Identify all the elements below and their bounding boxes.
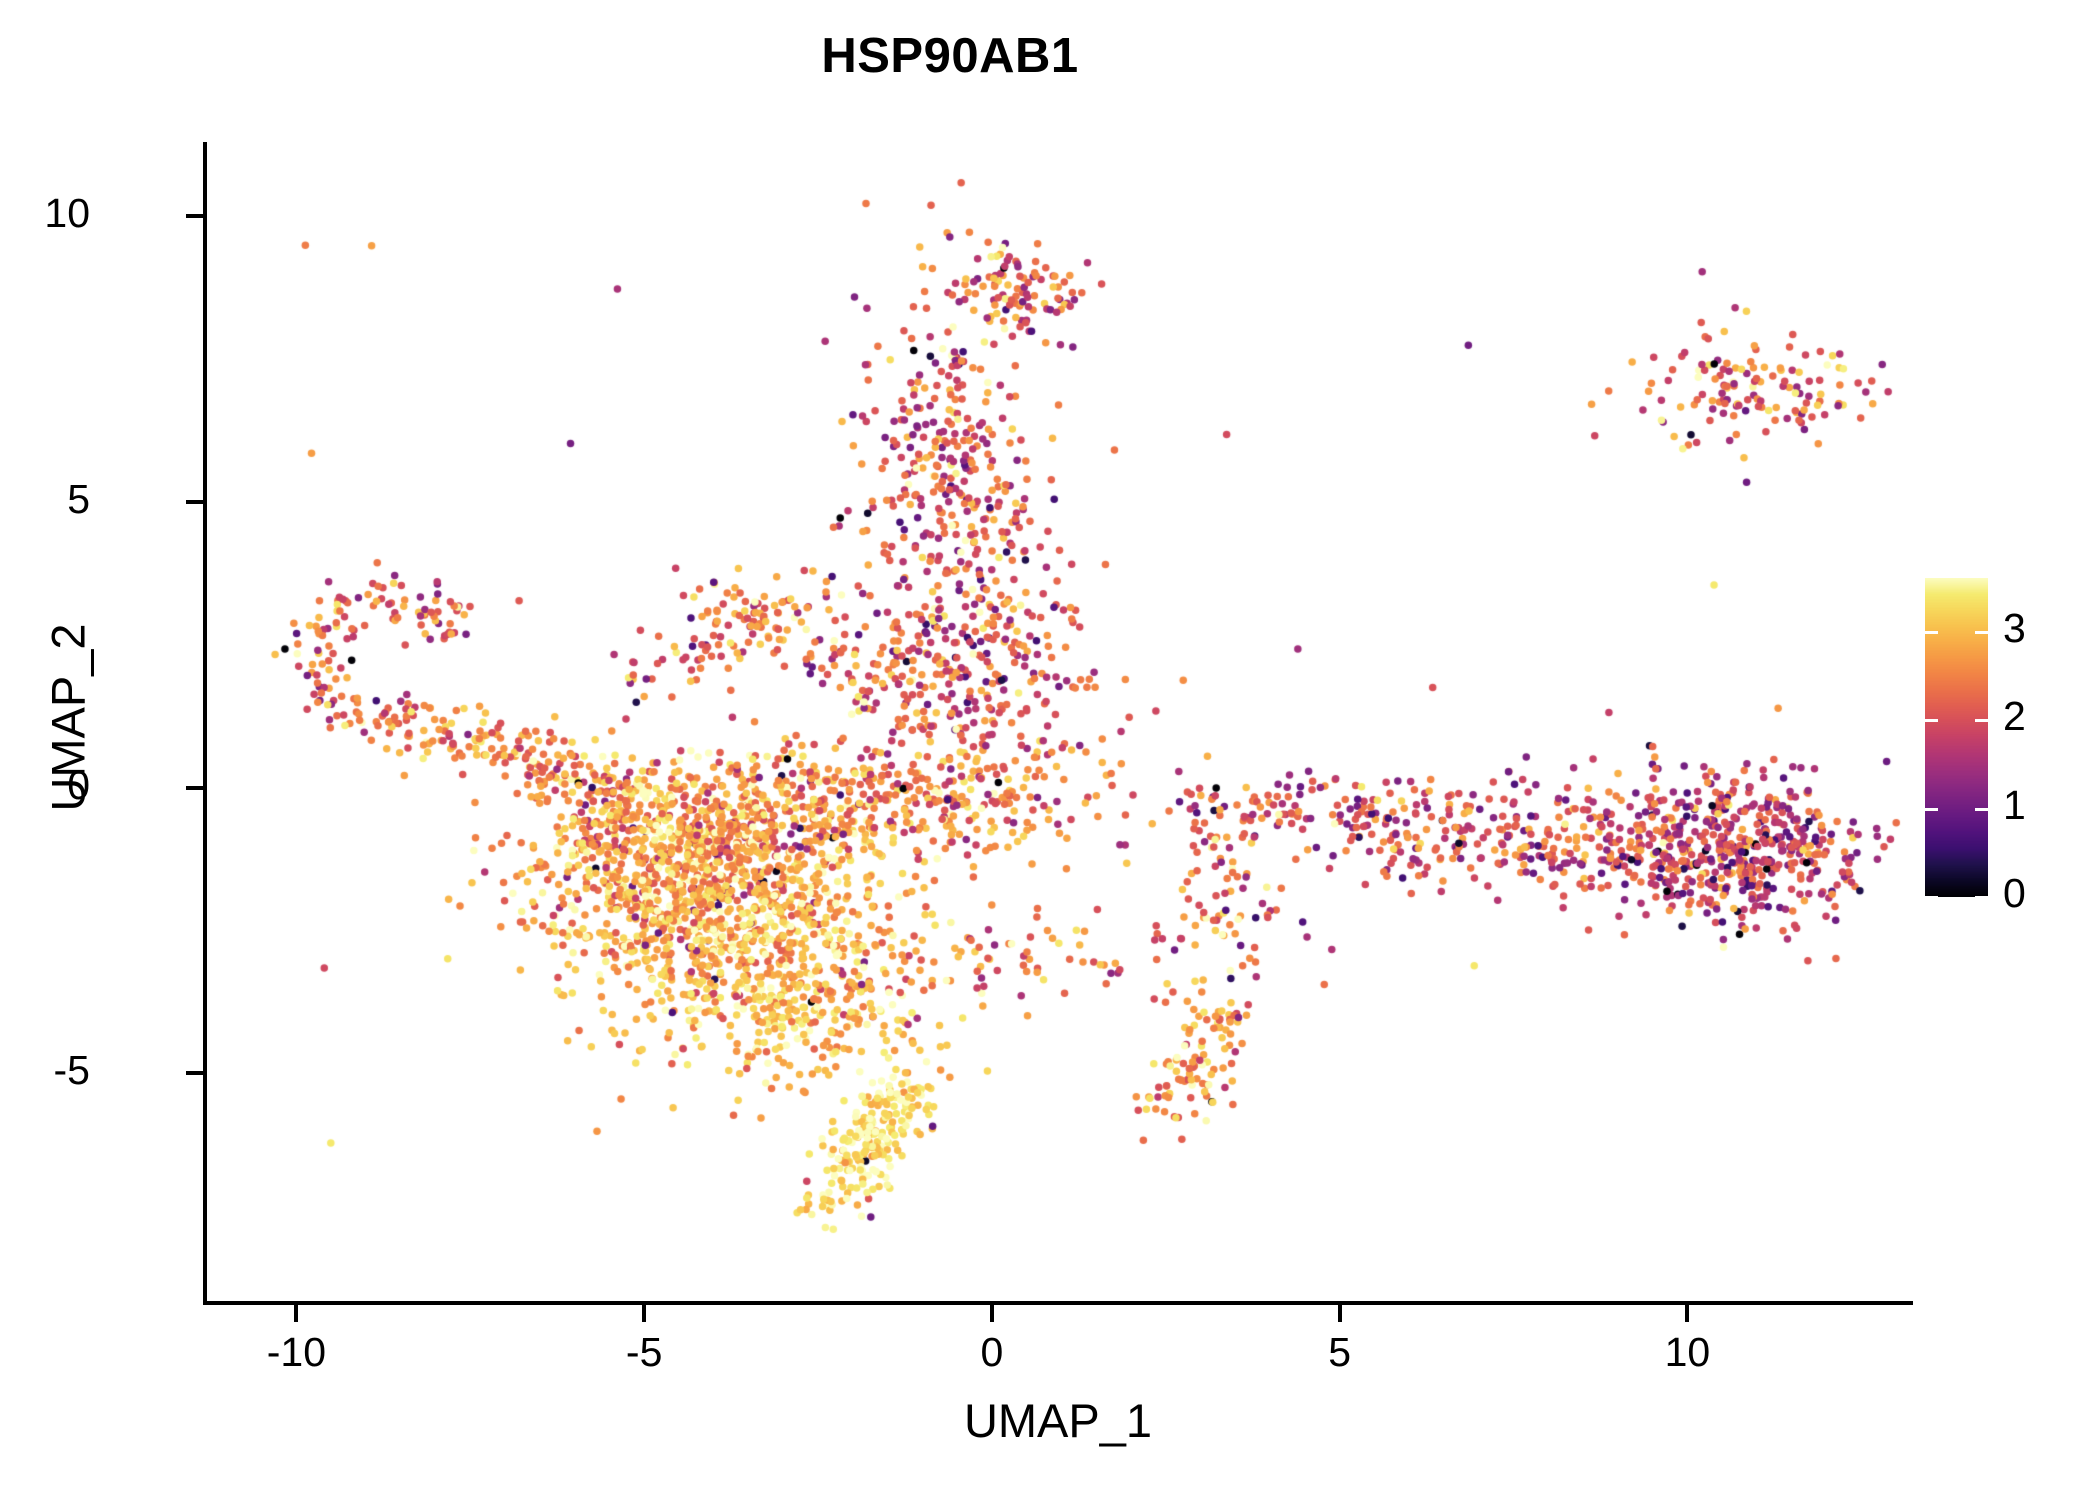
x-axis-title: UMAP_1 [206,1393,1910,1448]
colorbar-gradient [1925,578,1988,897]
x-axis-tick [1338,1305,1342,1322]
x-axis-tick [990,1305,994,1322]
colorbar-tick [1925,631,1938,634]
colorbar-tick [1975,808,1988,811]
colorbar-tick [1975,896,1988,899]
colorbar-tick [1925,719,1938,722]
scatter-plot-figure: HSP90AB1 1050-5-10-50510 UMAP_1 UMAP_2 3… [0,0,2100,1500]
x-axis-tick-label: -5 [554,1329,734,1376]
plot-panel [206,142,1910,1302]
x-axis-tick-label: 10 [1597,1329,1777,1376]
y-axis-title: UMAP_2 [41,418,96,1018]
colorbar-tick-label: 0 [2003,870,2026,917]
y-axis-line [203,142,207,1305]
y-axis-tick [186,214,203,218]
colorbar-tick [1975,631,1988,634]
colorbar-tick-label: 1 [2003,782,2026,829]
colorbar-tick [1925,808,1938,811]
scatter-points-canvas [206,142,1910,1302]
x-axis-tick-label: -10 [206,1329,386,1376]
colorbar-tick-label: 3 [2003,605,2026,652]
y-axis-tick-label: 10 [44,190,90,237]
x-axis-tick [1685,1305,1689,1322]
page-title: HSP90AB1 [0,28,1900,84]
x-axis-tick [294,1305,298,1322]
colorbar-tick [1925,896,1938,899]
y-axis-tick-label: -5 [54,1047,90,1094]
x-axis-tick [642,1305,646,1322]
colorbar-tick [1975,719,1988,722]
y-axis-tick [186,786,203,790]
color-legend: 3210 [1925,578,2085,898]
x-axis-line [203,1301,1913,1305]
y-axis-tick [186,1071,203,1075]
y-axis-tick [186,500,203,504]
colorbar-tick-label: 2 [2003,693,2026,740]
x-axis-tick-label: 5 [1250,1329,1430,1376]
x-axis-tick-label: 0 [902,1329,1082,1376]
